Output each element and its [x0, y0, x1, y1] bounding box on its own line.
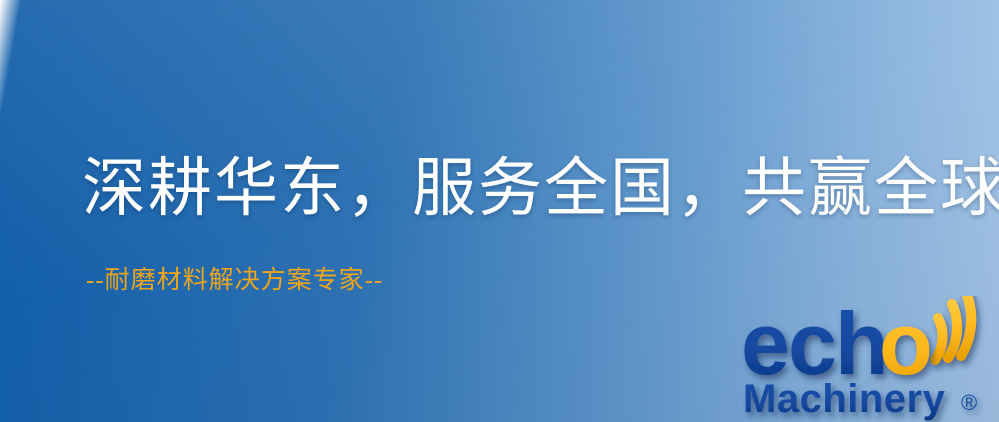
echo-machinery-logo[interactable]: ech o Machinery ®	[742, 296, 999, 422]
logo-tagline-machinery: Machinery ®	[743, 377, 977, 421]
banner-subtitle: --耐磨材料解决方案专家--	[86, 266, 383, 296]
svg-text:Machinery: Machinery	[743, 377, 946, 421]
banner-headline: 深耕华东，服务全国，共赢全球	[82, 152, 999, 226]
wifi-signal-waves-icon	[935, 296, 971, 360]
svg-text:®: ®	[961, 390, 977, 415]
hero-banner: 深耕华东，服务全国，共赢全球 --耐磨材料解决方案专家--	[0, 0, 999, 422]
